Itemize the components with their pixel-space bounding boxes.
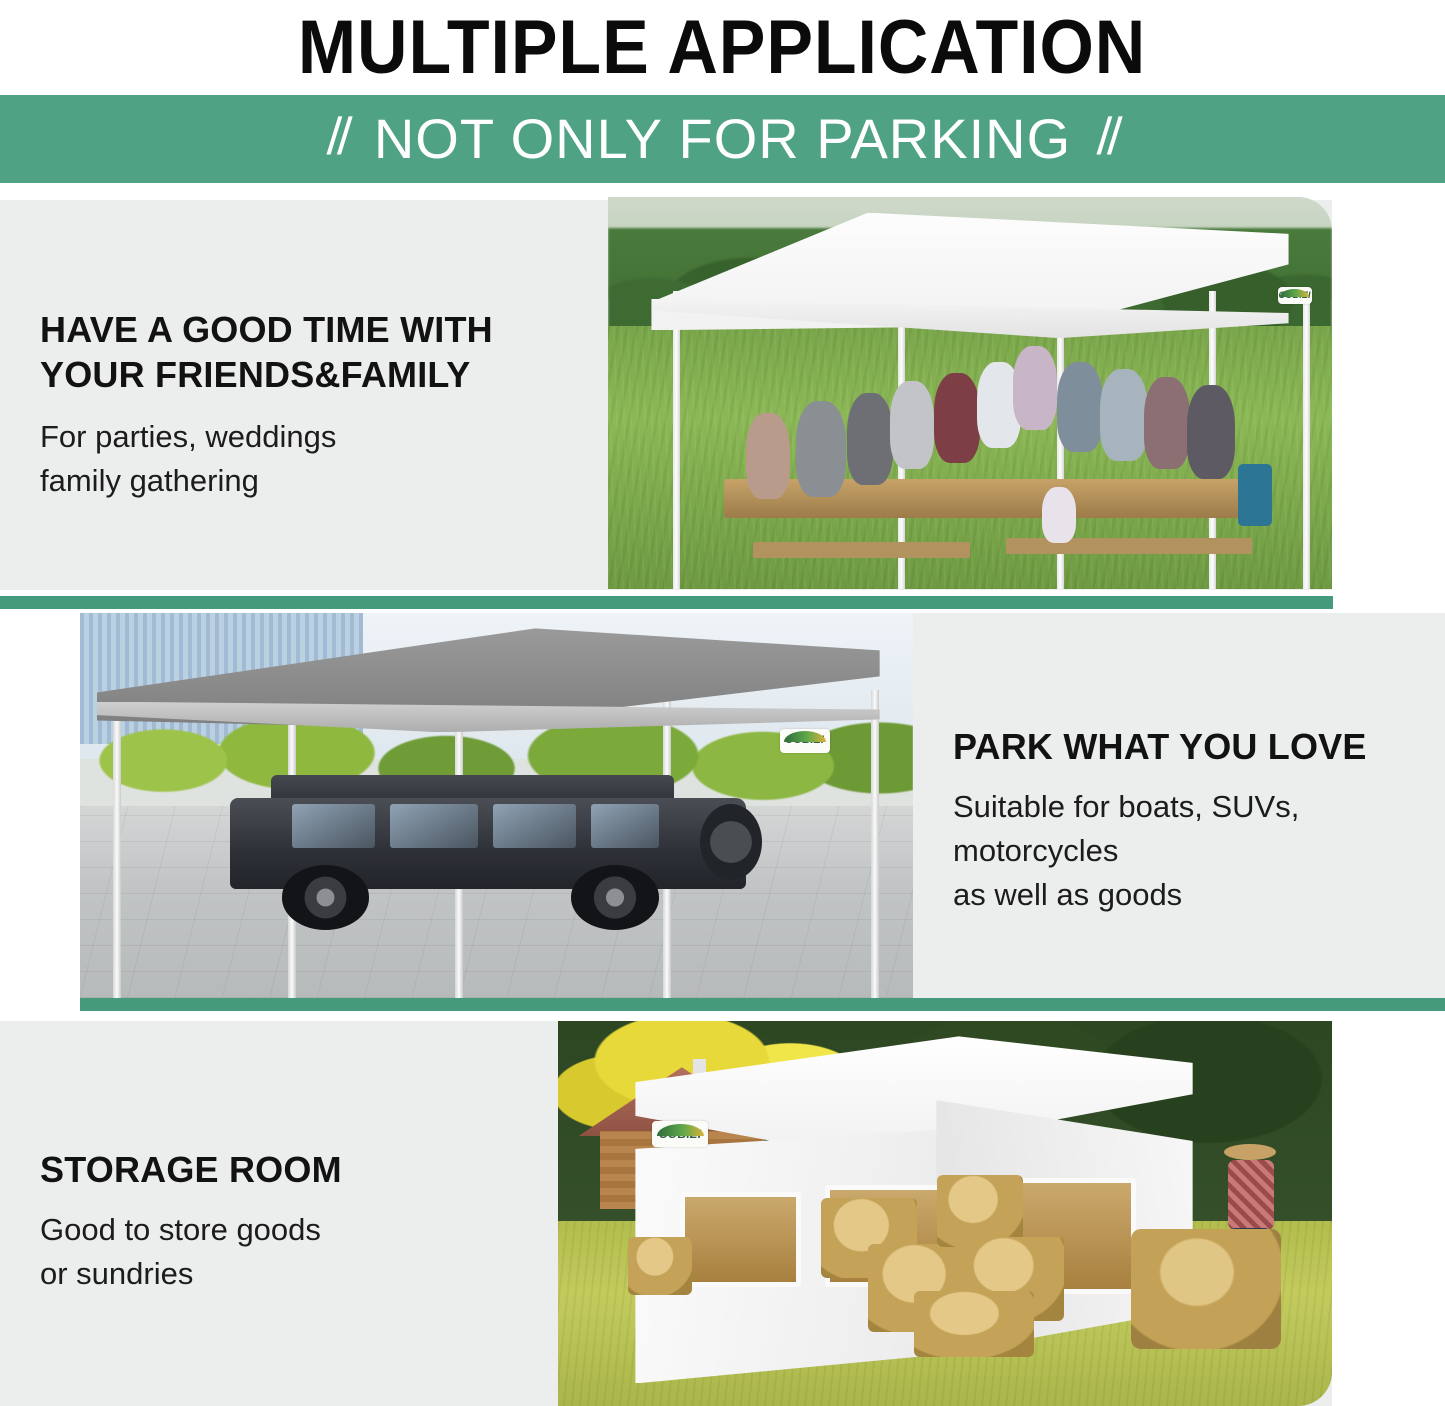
feature-subtext: For parties, weddings family gathering [40,415,585,503]
feature-image-storage-room: COBIZI [558,1021,1332,1406]
logo-swoosh-icon [657,1124,704,1136]
hay-bale [628,1237,692,1295]
suv-wheel [282,865,370,929]
hay-bale [914,1291,1034,1357]
feature-section-friends-family: COBIZI HAVE A GOOD TIME WITH YOUR FRIEND… [0,183,1445,608]
cobizi-logo: COBIZI [780,729,830,753]
cobizi-logo: COBIZI [1278,287,1312,304]
cobizi-logo: COBIZI [652,1121,708,1147]
feature-image-park-what-you-love: COBIZI [80,613,913,998]
bench [1006,538,1252,554]
slash-left-icon: // [326,111,349,167]
feature-image-friends-family: COBIZI [608,197,1332,589]
person [1187,385,1235,479]
person [746,413,790,499]
logo-swoosh-icon [784,731,826,742]
feature-text-storage-room: STORAGE ROOM Good to store goods or sund… [40,1147,520,1296]
suv-spare-tire [700,804,762,880]
suv-window [292,804,375,848]
suv-vehicle [230,775,746,921]
feature-heading: HAVE A GOOD TIME WITH YOUR FRIENDS&FAMIL… [40,307,585,397]
page-title: MULTIPLE APPLICATION [298,8,1146,88]
person [796,401,846,497]
person [1013,346,1057,430]
person [1057,362,1103,452]
scene-meadow-picnic: COBIZI [608,197,1332,589]
person [847,393,893,485]
person [890,381,934,469]
canopy-pole [113,690,121,998]
header-title-bar: MULTIPLE APPLICATION [0,0,1445,95]
scene-garage-tent-hay: COBIZI [558,1021,1332,1406]
person [1100,369,1148,461]
feature-subtext: Good to store goods or sundries [40,1208,520,1296]
feature-text-friends-family: HAVE A GOOD TIME WITH YOUR FRIENDS&FAMIL… [40,307,585,503]
person [1144,377,1190,469]
canopy-pole [871,690,879,998]
feature-section-park-what-you-love: COBIZI PARK WHAT YOU LOVE Suitable for b… [0,608,1445,1013]
accent-divider-strip [80,998,1445,1011]
tent-window [680,1192,801,1287]
suv-window [493,804,576,848]
feature-section-storage-room: COBIZI STORAGE ROOM Good to store goods … [0,1013,1445,1406]
suv-window [591,804,658,848]
slash-right-icon: // [1096,111,1119,167]
child [1042,487,1076,543]
feature-text-park-what-you-love: PARK WHAT YOU LOVE Suitable for boats, S… [953,724,1433,917]
scene-carport-suv: COBIZI [80,613,913,998]
man-torso [1228,1160,1274,1230]
canopy-pole [673,291,680,589]
feature-heading: STORAGE ROOM [40,1147,520,1192]
header-subtitle-banner: // NOT ONLY FOR PARKING // [0,95,1445,183]
bench [753,542,970,558]
feature-subtext: Suitable for boats, SUVs, motorcycles as… [953,785,1433,917]
cowboy-hat [1224,1144,1276,1160]
person [934,373,980,463]
suv-window [390,804,478,848]
feature-heading: PARK WHAT YOU LOVE [953,724,1433,769]
suv-wheel [571,865,659,929]
canopy-pole [1303,299,1310,589]
page-subtitle: NOT ONLY FOR PARKING [374,111,1071,167]
hay-bale-on-cart [1131,1229,1281,1349]
blue-chair [1238,464,1272,526]
